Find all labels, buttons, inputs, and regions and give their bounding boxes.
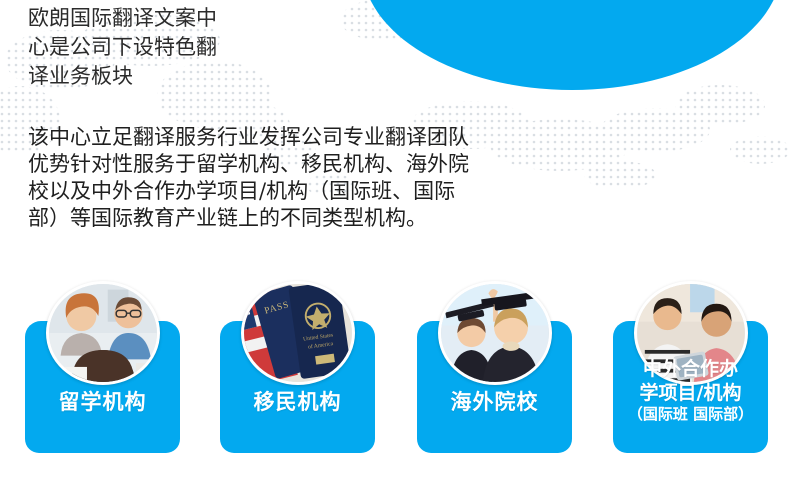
category-card-label: 移民机构 (220, 389, 375, 415)
promo-banner: 欧朗国际翻译文案中 心是公司下设特色翻 译业务板块 该中心立足翻译服务行业发挥公… (0, 0, 800, 487)
blue-circle-blob-icon (362, 0, 782, 90)
category-card-list: 留学机构 (0, 281, 800, 481)
category-card-study-abroad[interactable]: 留学机构 (25, 321, 180, 453)
category-card-label: 海外院校 (417, 389, 572, 415)
category-card-label: 留学机构 (25, 389, 180, 415)
page-title: 欧朗国际翻译文案中 心是公司下设特色翻 译业务板块 (28, 4, 328, 91)
students-meeting-photo-icon (46, 281, 160, 385)
graduates-photo-icon (438, 281, 552, 385)
passports-photo-icon: PASS United States of America (241, 281, 355, 385)
category-card-overseas-schools[interactable]: 海外院校 (417, 321, 572, 453)
category-card-label: 中外合作办 学项目/机构 (613, 357, 768, 405)
category-card-sublabel: （国际班 国际部） (613, 405, 768, 424)
category-card-immigration[interactable]: PASS United States of America 移民机构 (220, 321, 375, 453)
category-card-joint-programs[interactable]: 中外合作办 学项目/机构 （国际班 国际部） (613, 321, 768, 453)
body-paragraph: 该中心立足翻译服务行业发挥公司专业翻译团队 优势针对性服务于留学机构、移民机构、… (28, 124, 573, 232)
